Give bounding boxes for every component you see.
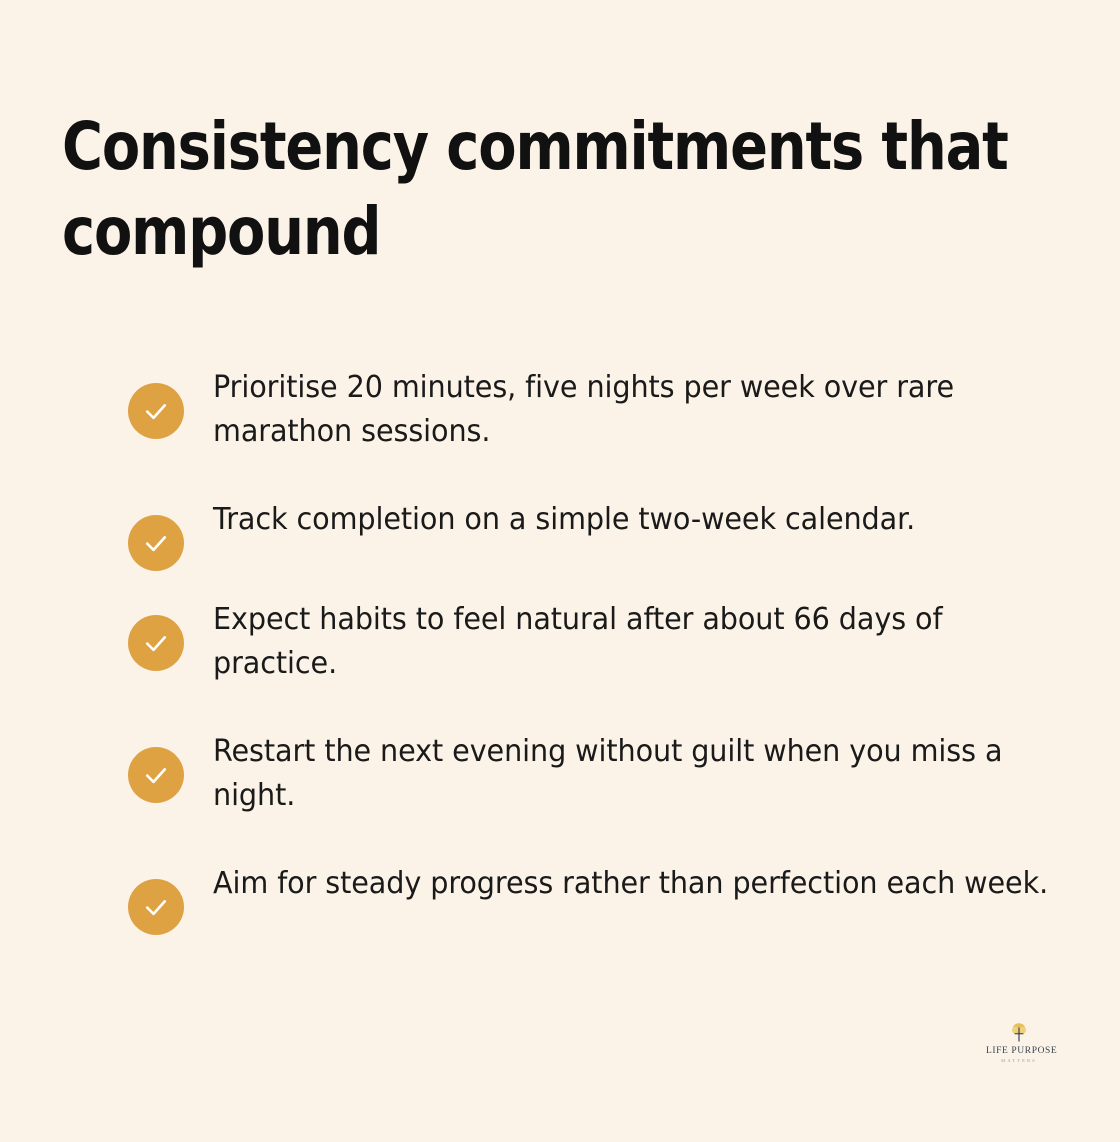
page-title: Consistency commitments that compound	[62, 104, 1011, 274]
logo-name: LIFE PURPOSE	[986, 1047, 1052, 1057]
slide-canvas: Consistency commitments that compound Pr…	[0, 0, 1120, 1142]
list-item-label: Prioritise 20 minutes, five nights per w…	[213, 366, 1068, 454]
commitment-list: Prioritise 20 minutes, five nights per w…	[128, 366, 1068, 918]
list-item: Restart the next evening without guilt w…	[128, 730, 1068, 818]
check-circle-icon	[128, 383, 184, 439]
logo-tagline: MATTERS	[986, 1059, 1052, 1064]
check-circle-icon	[128, 615, 184, 671]
list-item: Expect habits to feel natural after abou…	[128, 598, 1068, 686]
list-item-label: Aim for steady progress rather than perf…	[213, 862, 1068, 906]
list-item: Track completion on a simple two-week ca…	[128, 498, 1068, 554]
check-circle-icon	[128, 879, 184, 935]
list-item: Prioritise 20 minutes, five nights per w…	[128, 366, 1068, 454]
brand-logo: LIFE PURPOSE MATTERS	[986, 1021, 1052, 1064]
check-circle-icon	[128, 515, 184, 571]
list-item-label: Restart the next evening without guilt w…	[213, 730, 1068, 818]
list-item: Aim for steady progress rather than perf…	[128, 862, 1068, 918]
list-item-label: Track completion on a simple two-week ca…	[213, 498, 1068, 542]
list-item-label: Expect habits to feel natural after abou…	[213, 598, 1068, 686]
check-circle-icon	[128, 747, 184, 803]
tree-icon	[1007, 1021, 1031, 1045]
